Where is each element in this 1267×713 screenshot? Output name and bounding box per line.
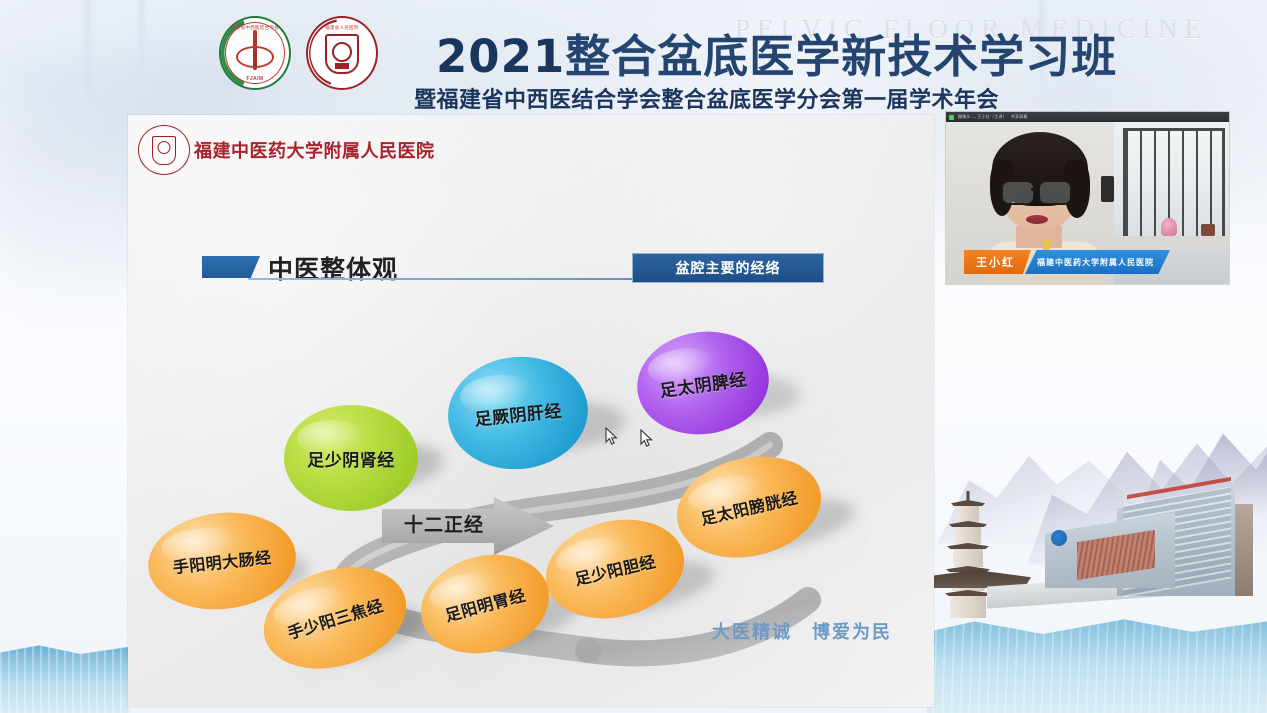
slide-section-header: 中医整体观 盆腔主要的经络 — [202, 252, 882, 286]
fjaim-society-logo: 福建省中西医结合学会 FJAIM — [219, 16, 291, 90]
hospital-emblem-icon — [1051, 530, 1067, 546]
video-window-titlebar[interactable]: 摄像头 — 王小红（主讲） 共享屏幕 — [946, 112, 1229, 122]
bubble-zushaoyin-shen[interactable]: 足少阴肾经 — [284, 405, 418, 511]
bubble-zutaiyang-pangguang[interactable]: 足太阳膀胱经 — [667, 443, 831, 571]
bubble-label: 足太阴脾经 — [658, 365, 748, 402]
speaker-video-panel[interactable]: 摄像头 — 王小红（主讲） 共享屏幕 — [946, 112, 1229, 284]
recording-indicator-icon — [949, 115, 954, 120]
slide-section-title: 中医整体观 — [268, 250, 398, 286]
bubble-label: 手少阳三焦经 — [284, 592, 386, 644]
bubble-label: 足太阳膀胱经 — [698, 484, 800, 530]
bubble-label: 足阳明胃经 — [442, 582, 528, 627]
speaker-name-tag: 王小红 福建中医药大学附属人民医院 — [964, 250, 1170, 274]
wall-speaker-device — [1101, 176, 1114, 202]
plant-pot — [1201, 224, 1215, 236]
fujian-provincial-peoples-hospital-logo: 福建省人民医院 — [306, 16, 378, 90]
eyeglasses-lens-right — [1038, 180, 1072, 205]
bubble-label: 足少阴肾经 — [307, 446, 395, 471]
slide-hospital-name: 福建中医药大学附属人民医院 — [194, 137, 435, 163]
screen-root: 福建省中西医结合学会 FJAIM 福建省人民医院 PELVIC FLOOR ME… — [0, 0, 1267, 713]
mouse-cursor-arrow-secondary — [640, 429, 653, 448]
window-sill — [1114, 236, 1229, 250]
video-feed: 王小红 福建中医药大学附属人民医院 — [946, 122, 1229, 284]
bubble-zujueyin-gan[interactable]: 足厥阴肝经 — [443, 350, 594, 476]
water-artwork-left — [0, 641, 130, 713]
video-window-subtitle: 共享屏幕 — [1011, 114, 1028, 120]
fjaim-logo-arc-text: 福建省中西医结合学会 — [219, 25, 291, 31]
slide-tagline: 大医精诚 博爱为民 — [712, 618, 892, 644]
slide-section-badge: 盆腔主要的经络 — [632, 253, 824, 283]
speaker-name: 王小红 — [964, 250, 1031, 274]
presentation-slide[interactable]: 福建中医药大学附属人民医院 中医整体观 盆腔主要的经络 — [128, 115, 934, 707]
speaker-affiliation: 福建中医药大学附属人民医院 — [1025, 250, 1170, 274]
section-underline — [248, 278, 668, 280]
section-tab-marker — [202, 256, 260, 278]
hospital-scenery-artwork — [927, 430, 1267, 713]
slide-hospital-logo — [136, 123, 192, 177]
mouse-cursor-arrow — [605, 427, 618, 446]
eyeglasses-bridge — [1031, 188, 1038, 191]
eyeglasses-lens-left — [1001, 180, 1035, 205]
hospital-logo-arc-text: 福建省人民医院 — [306, 25, 378, 31]
arrow-label: 十二正经 — [394, 510, 494, 537]
pagoda-illustration — [945, 500, 991, 630]
event-title-year: 2021 — [436, 30, 565, 83]
event-title-text: 整合盆底医学新技术学习班 — [565, 30, 1117, 83]
fjaim-logo-text: FJAIM — [219, 76, 291, 82]
bubble-label: 足少阳胆经 — [572, 548, 658, 590]
bubble-zutaiyin-pi[interactable]: 足太阴脾经 — [631, 323, 776, 442]
bubble-zuyangming-wei[interactable]: 足阳明胃经 — [410, 541, 560, 667]
event-sub-title: 暨福建省中西医结合学会整合盆底医学分会第一届学术年会 — [414, 82, 999, 114]
speaker-mouth — [1026, 215, 1048, 224]
shierzhengjing-arrow: 十二正经 — [382, 497, 554, 555]
bubble-label: 手阳明大肠经 — [172, 544, 273, 578]
event-banner: 福建省中西医结合学会 FJAIM 福建省人民医院 PELVIC FLOOR ME… — [0, 0, 1267, 115]
bubble-label: 足厥阴肝经 — [473, 396, 563, 430]
flower-decor — [1161, 218, 1177, 236]
video-window-title: 摄像头 — 王小红（主讲） — [958, 114, 1007, 120]
event-main-title: 2021整合盆底医学新技术学习班 — [436, 20, 1117, 85]
water-artwork — [927, 609, 1267, 713]
